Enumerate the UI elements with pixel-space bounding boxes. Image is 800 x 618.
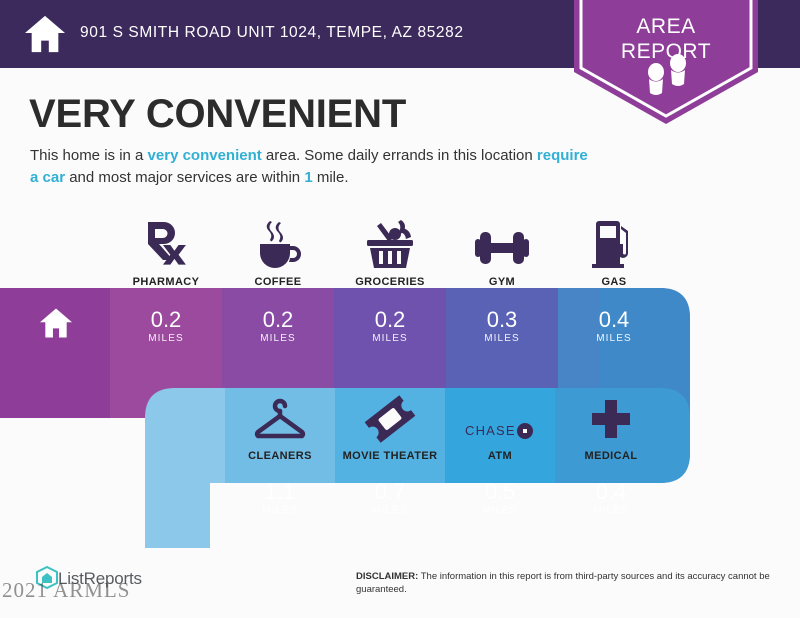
summary-text: This home is in a very convenient area. … — [30, 145, 590, 189]
distance-value: 1.1 — [225, 480, 335, 504]
subtitle-part-2: area. Some daily errands in this locatio… — [262, 147, 537, 164]
disclaimer-text: The information in this report is from t… — [356, 571, 770, 595]
distance-unit: MILES — [555, 505, 667, 516]
coffee-cup-icon — [222, 218, 334, 270]
distance-coffee: 0.2 MILES — [222, 308, 334, 344]
category-cleaners: CLEANERS — [225, 392, 335, 462]
category-label: GAS — [558, 276, 670, 288]
medical-cross-icon — [555, 392, 667, 444]
category-atm: CHASE ATM — [445, 392, 555, 462]
subtitle-highlight-1: very convenient — [148, 147, 262, 164]
property-address: 901 S SMITH ROAD UNIT 1024, TEMPE, AZ 85… — [80, 24, 464, 42]
category-coffee: COFFEE — [222, 218, 334, 288]
category-pharmacy: PHARMACY — [110, 218, 222, 288]
badge-line-2: REPORT — [568, 39, 764, 64]
distance-unit: MILES — [222, 333, 334, 344]
category-label: ATM — [445, 450, 555, 462]
distance-value: 0.7 — [335, 480, 445, 504]
disclaimer-label: DISCLAIMER: — [356, 571, 418, 582]
category-label: COFFEE — [222, 276, 334, 288]
distance-movie-theater: 0.7 MILES — [335, 480, 445, 516]
distance-value: 0.5 — [445, 480, 555, 504]
distance-unit: MILES — [334, 333, 446, 344]
prescription-rx-icon — [110, 218, 222, 270]
distance-value: 0.2 — [110, 308, 222, 332]
chase-bank-logo-icon: CHASE — [445, 392, 555, 444]
category-gas: GAS — [558, 218, 670, 288]
movie-ticket-icon — [335, 392, 445, 444]
subtitle-highlight-3: 1 — [304, 169, 312, 186]
distance-groceries: 0.2 MILES — [334, 308, 446, 344]
distance-cleaners: 1.1 MILES — [225, 480, 335, 516]
distance-value: 0.4 — [558, 308, 670, 332]
distance-unit: MILES — [110, 333, 222, 344]
grocery-basket-icon — [334, 218, 446, 270]
home-icon — [24, 14, 66, 54]
category-label: GROCERIES — [334, 276, 446, 288]
distance-unit: MILES — [446, 333, 558, 344]
distance-unit: MILES — [335, 505, 445, 516]
subtitle-part-3: and most major services are within — [65, 169, 304, 186]
badge-label: AREA REPORT — [568, 14, 764, 64]
badge-line-1: AREA — [568, 14, 764, 39]
distance-unit: MILES — [558, 333, 670, 344]
category-label: GYM — [446, 276, 558, 288]
category-movie-theater: MOVIE THEATER — [335, 392, 445, 462]
distance-gas: 0.4 MILES — [558, 308, 670, 344]
distance-value: 0.4 — [555, 480, 667, 504]
distance-unit: MILES — [225, 505, 335, 516]
disclaimer: DISCLAIMER: The information in this repo… — [356, 570, 776, 596]
category-medical: MEDICAL — [555, 392, 667, 462]
distance-unit: MILES — [445, 505, 555, 516]
home-icon — [39, 307, 73, 339]
armls-watermark: 2021 ARMLS — [2, 578, 130, 603]
distance-pharmacy: 0.2 MILES — [110, 308, 222, 344]
category-label: MOVIE THEATER — [335, 450, 445, 462]
subtitle-part-1: This home is in a — [30, 147, 148, 164]
category-label: PHARMACY — [110, 276, 222, 288]
page-title: VERY CONVENIENT — [29, 92, 406, 137]
category-groceries: GROCERIES — [334, 218, 446, 288]
clothes-hanger-icon — [225, 392, 335, 444]
distance-atm: 0.5 MILES — [445, 480, 555, 516]
distance-value: 0.3 — [446, 308, 558, 332]
dumbbell-icon — [446, 218, 558, 270]
gas-pump-icon — [558, 218, 670, 270]
category-gym: GYM — [446, 218, 558, 288]
category-label: MEDICAL — [555, 450, 667, 462]
distance-value: 0.2 — [334, 308, 446, 332]
ribbon-bottom-tail — [145, 448, 215, 548]
distance-medical: 0.4 MILES — [555, 480, 667, 516]
area-report-page: 901 S SMITH ROAD UNIT 1024, TEMPE, AZ 85… — [0, 0, 800, 618]
svg-text:CHASE: CHASE — [465, 423, 516, 438]
distance-gym: 0.3 MILES — [446, 308, 558, 344]
distance-value: 0.2 — [222, 308, 334, 332]
subtitle-part-4: mile. — [313, 169, 349, 186]
category-label: CLEANERS — [225, 450, 335, 462]
